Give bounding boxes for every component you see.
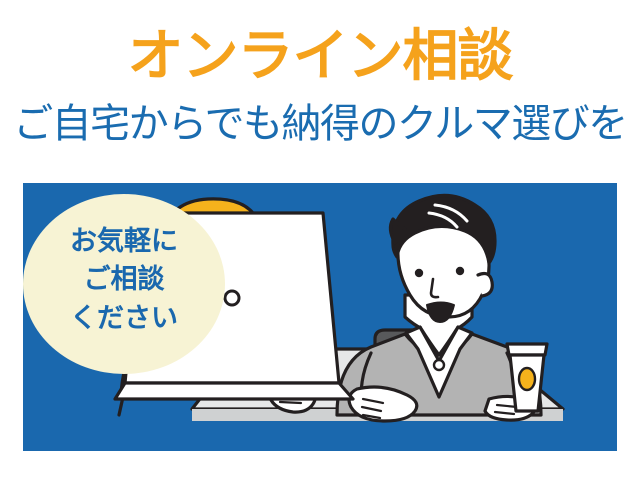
callout-line-1: お気軽に	[23, 222, 225, 260]
callout-line-2: ご相談	[23, 260, 225, 298]
page-subtitle: ご自宅からでも納得のクルマ選びを	[0, 104, 640, 144]
callout-badge: お気軽に ご相談 ください	[23, 194, 225, 374]
callout-line-3: ください	[23, 299, 225, 337]
callout-badge-text: お気軽に ご相談 ください	[23, 222, 225, 337]
illustration-panel: お気軽に ご相談 ください	[23, 183, 617, 451]
banner-image: オンライン相談 ご自宅からでも納得のクルマ選びを	[0, 0, 640, 480]
page-title: オンライン相談	[0, 28, 640, 84]
man-figure	[337, 195, 541, 421]
